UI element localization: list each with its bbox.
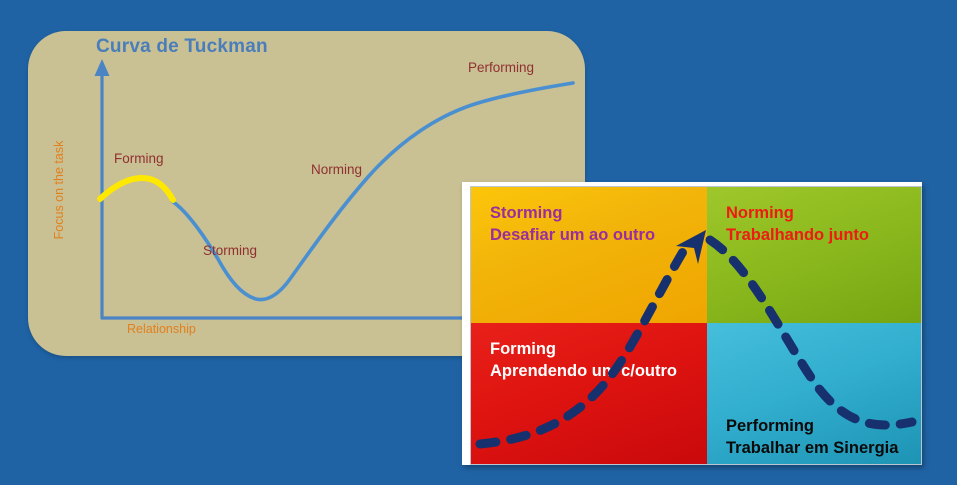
quadrant-forming[interactable]: Forming Aprendendo um c/outro xyxy=(471,323,707,465)
quadrant-performing-title: Performing xyxy=(726,416,922,438)
quadrant-norming[interactable]: Norming Trabalhando junto xyxy=(707,187,922,323)
quadrant-norming-title: Norming xyxy=(726,203,922,225)
stage-label-performing: Performing xyxy=(468,60,534,75)
forming-highlight-arc xyxy=(100,178,173,200)
quadrant-forming-title: Forming xyxy=(490,339,707,361)
quadrant-performing[interactable]: Performing Trabalhar em Sinergia xyxy=(707,323,922,465)
quadrant-storming-subtitle: Desafiar um ao outro xyxy=(490,225,707,247)
slide-canvas: Curva de Tuckman Focus on the task Relat… xyxy=(0,0,957,485)
quadrant-norming-subtitle: Trabalhando junto xyxy=(726,225,922,247)
stage-label-forming: Forming xyxy=(114,151,164,166)
quadrant-performing-subtitle: Trabalhar em Sinergia xyxy=(726,438,922,460)
x-axis-label: Relationship xyxy=(127,322,196,336)
y-axis-arrowhead xyxy=(95,59,110,76)
stage-label-norming: Norming xyxy=(311,162,362,177)
tuckman-quadrant-matrix: Storming Desafiar um ao outro Norming Tr… xyxy=(462,182,922,465)
quadrant-storming-title: Storming xyxy=(490,203,707,225)
quadrant-forming-subtitle: Aprendendo um c/outro xyxy=(490,361,707,383)
quadrant-storming[interactable]: Storming Desafiar um ao outro xyxy=(471,187,707,323)
stage-label-storming: Storming xyxy=(203,243,257,258)
quadrant-grid: Storming Desafiar um ao outro Norming Tr… xyxy=(470,186,922,465)
y-axis-label: Focus on the task xyxy=(52,135,66,245)
